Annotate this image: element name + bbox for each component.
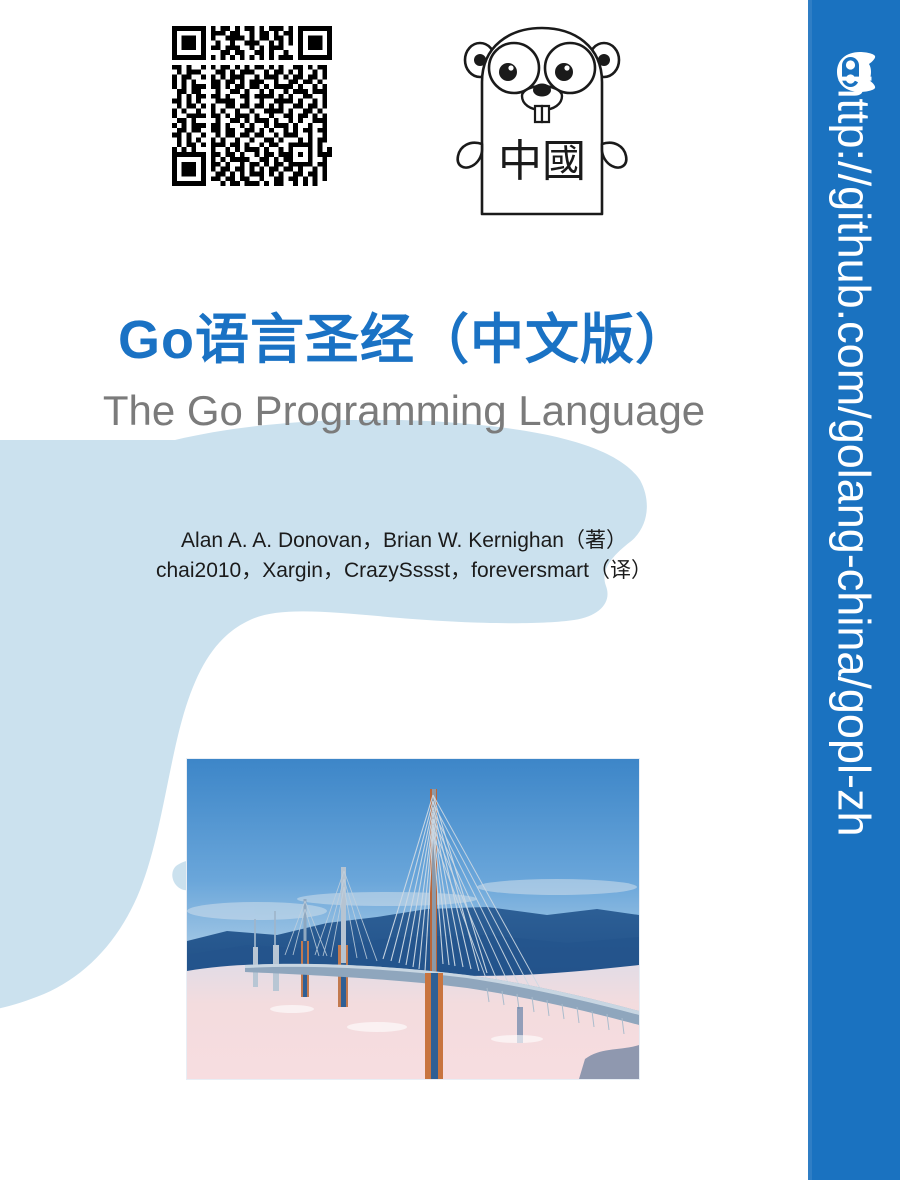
book-cover: 中國 Go语言圣经（中文版） The Go Programming Langua… (0, 0, 900, 1180)
book-title-chinese: Go语言圣经（中文版） (0, 312, 808, 369)
authors-line: Alan A. A. Donovan，Brian W. Kernighan（著） (0, 526, 808, 556)
go-gopher-mascot: 中國 (452, 24, 632, 219)
translators-line: chai2010，Xargin，CrazySssst，foreversmart（… (0, 556, 808, 586)
github-url-text[interactable]: http://github.com/golang-china/gopl-zh (832, 74, 877, 1074)
github-url-banner: http://github.com/golang-china/gopl-zh (808, 0, 900, 1180)
gopher-belly-text: 中國 (498, 136, 586, 187)
author-credits: Alan A. A. Donovan，Brian W. Kernighan（著）… (0, 526, 808, 587)
book-title-english: The Go Programming Language (0, 388, 808, 434)
millau-viaduct-photo (186, 758, 640, 1080)
qr-code[interactable] (172, 26, 332, 186)
